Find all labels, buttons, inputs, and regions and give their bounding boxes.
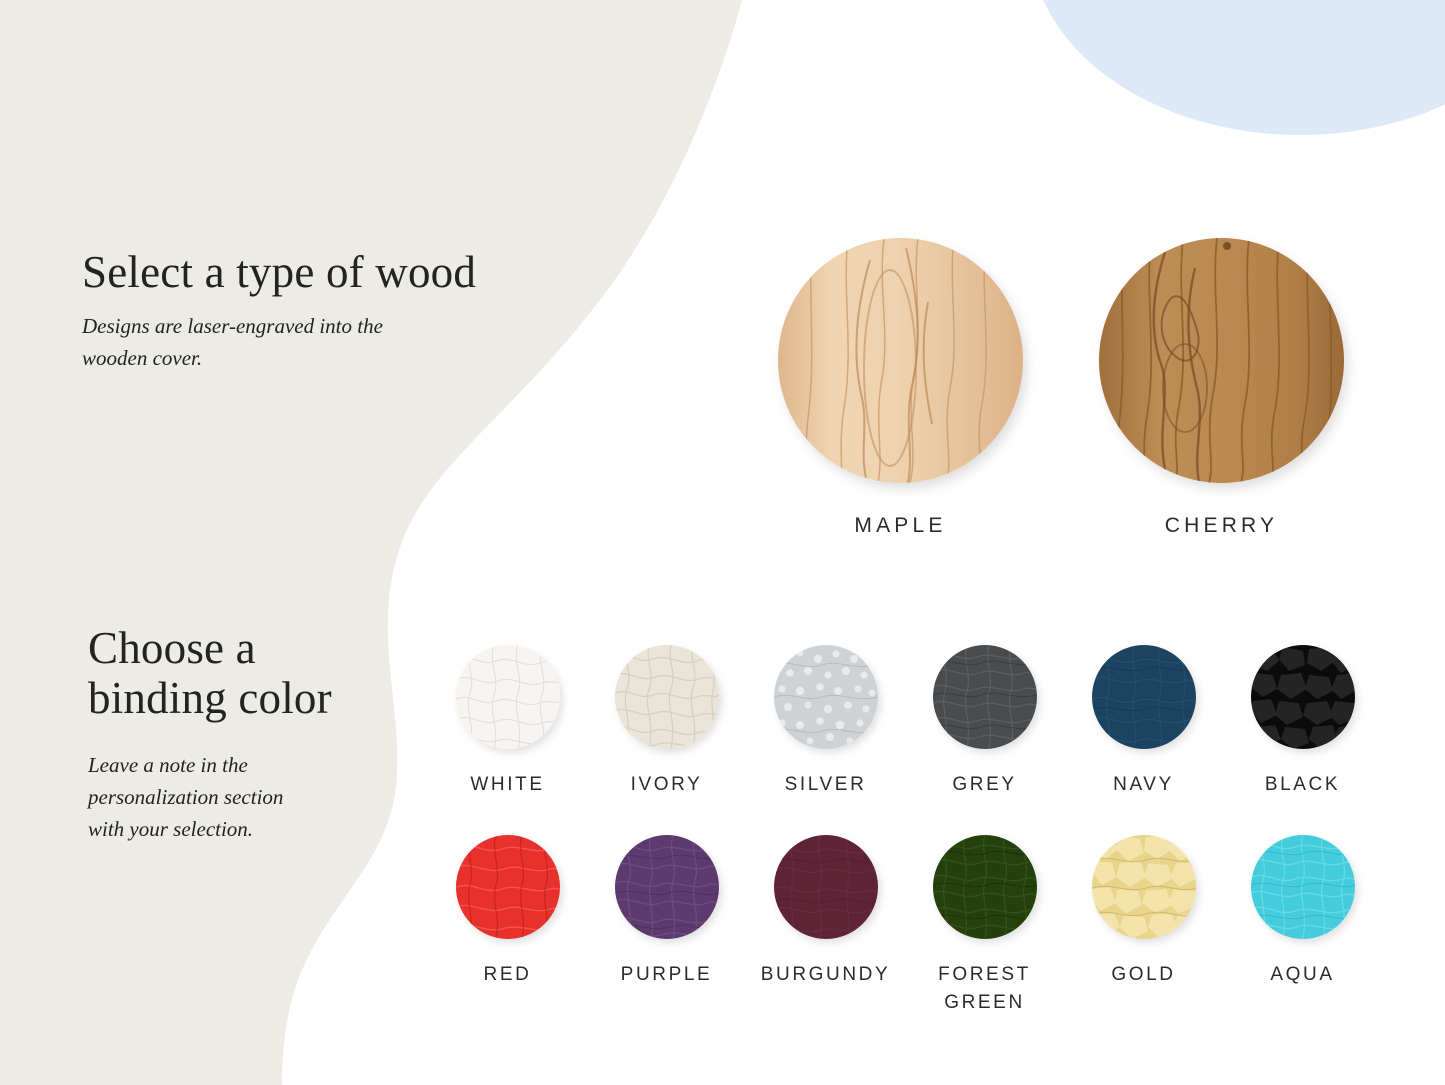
color-option-label: AQUA — [1270, 961, 1334, 989]
wood-option-maple[interactable]: MAPLE — [778, 238, 1023, 538]
product-customization-page: Select a type of wood Designs are laser-… — [0, 0, 1445, 1085]
color-swatch-disc[interactable] — [774, 645, 878, 749]
color-swatch-disc[interactable] — [615, 835, 719, 939]
color-option-label: WHITE — [470, 771, 544, 799]
cherry-swatch-disc[interactable] — [1099, 238, 1344, 483]
color-option-label: NAVY — [1113, 771, 1174, 799]
leather-texture — [615, 645, 719, 749]
color-option-label: BLACK — [1265, 771, 1340, 799]
binding-section-subtitle: Leave a note in the personalization sect… — [88, 750, 418, 846]
color-option-white[interactable]: WHITE — [428, 645, 587, 835]
color-swatch-disc[interactable] — [456, 645, 560, 749]
color-option-navy[interactable]: NAVY — [1064, 645, 1223, 835]
wood-option-label: MAPLE — [854, 514, 946, 538]
color-option-label: FOREST GREEN — [938, 961, 1031, 1016]
cherry-grain-texture — [1099, 238, 1344, 483]
color-option-grey[interactable]: GREY — [905, 645, 1064, 835]
color-swatch-disc[interactable] — [1092, 835, 1196, 939]
wood-section-copy: Select a type of wood Designs are laser-… — [82, 247, 482, 375]
leather-texture — [1251, 835, 1355, 939]
leather-texture — [1092, 645, 1196, 749]
color-swatch-disc[interactable] — [1092, 645, 1196, 749]
color-option-aqua[interactable]: AQUA — [1223, 835, 1382, 1025]
color-option-label: BURGUNDY — [761, 961, 891, 989]
color-option-label: PURPLE — [621, 961, 713, 989]
color-option-burgundy[interactable]: BURGUNDY — [746, 835, 905, 1025]
color-option-purple[interactable]: PURPLE — [587, 835, 746, 1025]
color-option-label: RED — [484, 961, 532, 989]
wood-options-row: MAPLE — [778, 238, 1344, 538]
color-option-label: GOLD — [1111, 961, 1175, 989]
color-option-black[interactable]: BLACK — [1223, 645, 1382, 835]
maple-grain-texture — [778, 238, 1023, 483]
wood-section-title: Select a type of wood — [82, 247, 482, 297]
leather-texture — [1251, 645, 1355, 749]
leather-texture — [933, 835, 1037, 939]
color-swatch-disc[interactable] — [1251, 645, 1355, 749]
color-option-ivory[interactable]: IVORY — [587, 645, 746, 835]
color-option-label: IVORY — [631, 771, 703, 799]
leather-texture — [615, 835, 719, 939]
color-swatch-disc[interactable] — [1251, 835, 1355, 939]
color-swatch-disc[interactable] — [774, 835, 878, 939]
leather-texture — [774, 835, 878, 939]
binding-color-grid: WHITE — [428, 645, 1382, 1025]
color-swatch-disc[interactable] — [933, 835, 1037, 939]
wood-option-cherry[interactable]: CHERRY — [1099, 238, 1344, 538]
color-swatch-disc[interactable] — [456, 835, 560, 939]
color-option-red[interactable]: RED — [428, 835, 587, 1025]
maple-swatch-disc[interactable] — [778, 238, 1023, 483]
color-swatch-disc[interactable] — [933, 645, 1037, 749]
binding-section-title: Choose a binding color — [88, 623, 418, 724]
leather-texture — [933, 645, 1037, 749]
color-option-label: GREY — [952, 771, 1016, 799]
leather-texture — [456, 645, 560, 749]
color-option-silver[interactable]: SILVER — [746, 645, 905, 835]
color-swatch-disc[interactable] — [615, 645, 719, 749]
wood-option-label: CHERRY — [1165, 514, 1279, 538]
color-option-label: SILVER — [785, 771, 867, 799]
color-option-forest-green[interactable]: FOREST GREEN — [905, 835, 1064, 1025]
color-option-gold[interactable]: GOLD — [1064, 835, 1223, 1025]
leather-texture — [774, 645, 878, 749]
leather-texture — [456, 835, 560, 939]
binding-section-copy: Choose a binding color Leave a note in t… — [88, 623, 418, 846]
wood-section-subtitle: Designs are laser-engraved into the wood… — [82, 311, 482, 375]
leather-texture — [1092, 835, 1196, 939]
